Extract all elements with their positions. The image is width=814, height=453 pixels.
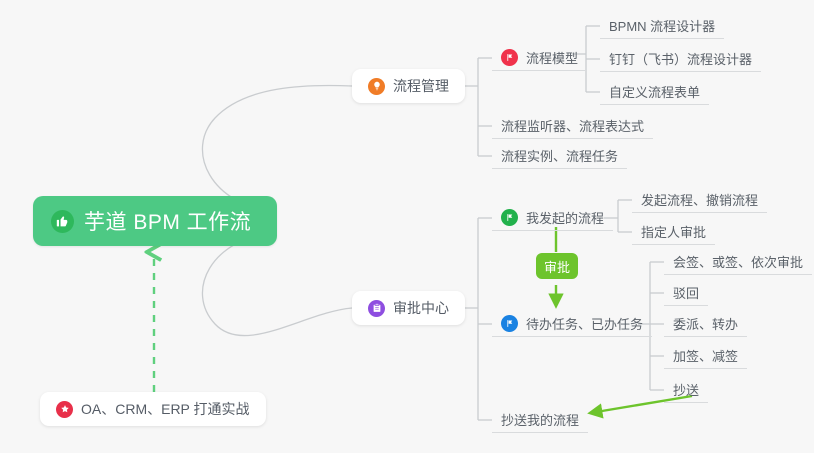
node-listener-expression[interactable]: 流程监听器、流程表达式 [492,112,653,139]
node-instance-task[interactable]: 流程实例、流程任务 [492,142,627,169]
node-label: 会签、或签、依次审批 [673,252,803,271]
node-add-remove-sign[interactable]: 加签、减签 [664,342,747,369]
branch-label: 流程管理 [393,76,449,96]
node-label: 指定人审批 [641,222,706,241]
node-label: 驳回 [673,283,699,302]
node-bpmn-designer[interactable]: BPMN 流程设计器 [600,12,724,39]
clipboard-icon [368,300,385,317]
node-label: 流程监听器、流程表达式 [501,116,644,135]
node-label: 委派、转办 [673,314,738,333]
flag-icon [501,209,518,226]
node-label: 加签、减签 [673,346,738,365]
approve-badge: 审批 [536,253,578,279]
integration-card[interactable]: OA、CRM、ERP 打通实战 [40,392,266,426]
node-label: 我发起的流程 [526,208,604,227]
thumbs-up-icon [51,210,74,233]
node-label: BPMN 流程设计器 [609,16,715,35]
node-todo-done-tasks[interactable]: 待办任务、已办任务 [492,310,652,337]
node-dingtalk-feishu-designer[interactable]: 钉钉（飞书）流程设计器 [600,45,761,72]
node-start-cancel-process[interactable]: 发起流程、撤销流程 [632,186,767,213]
integration-card-label: OA、CRM、ERP 打通实战 [81,399,250,419]
branch-label: 审批中心 [393,298,449,318]
node-countersign-modes[interactable]: 会签、或签、依次审批 [664,248,812,275]
approve-badge-label: 审批 [544,257,570,276]
node-label: 待办任务、已办任务 [526,314,643,333]
flag-icon [501,49,518,66]
branch-process-management[interactable]: 流程管理 [352,69,465,103]
node-delegate-transfer[interactable]: 委派、转办 [664,310,747,337]
node-assignee-approval[interactable]: 指定人审批 [632,218,715,245]
wire-root-to-approval-center [202,232,352,336]
node-reject[interactable]: 驳回 [664,279,708,306]
node-custom-process-form[interactable]: 自定义流程表单 [600,78,709,105]
node-cc-to-me-process[interactable]: 抄送我的流程 [492,406,588,433]
node-label: 流程实例、流程任务 [501,146,618,165]
mindmap-canvas: 芋道 BPM 工作流 流程管理 流程模型 BPMN 流程设计器 钉钉（飞书）流程… [0,0,814,453]
star-icon [56,401,73,418]
node-label: 发起流程、撤销流程 [641,190,758,209]
flag-icon [501,315,518,332]
branch-approval-center[interactable]: 审批中心 [352,291,465,325]
node-label: 抄送 [673,380,699,399]
node-label: 自定义流程表单 [609,82,700,101]
node-label: 钉钉（飞书）流程设计器 [609,49,752,68]
lightbulb-icon [368,78,385,95]
root-node[interactable]: 芋道 BPM 工作流 [33,196,277,246]
node-label: 抄送我的流程 [501,410,579,429]
node-my-initiated-process[interactable]: 我发起的流程 [492,204,613,231]
node-carbon-copy[interactable]: 抄送 [664,376,708,403]
wire-root-to-process-mgmt [202,85,352,212]
root-label: 芋道 BPM 工作流 [84,206,251,236]
node-label: 流程模型 [526,48,578,67]
node-process-model[interactable]: 流程模型 [492,44,587,71]
